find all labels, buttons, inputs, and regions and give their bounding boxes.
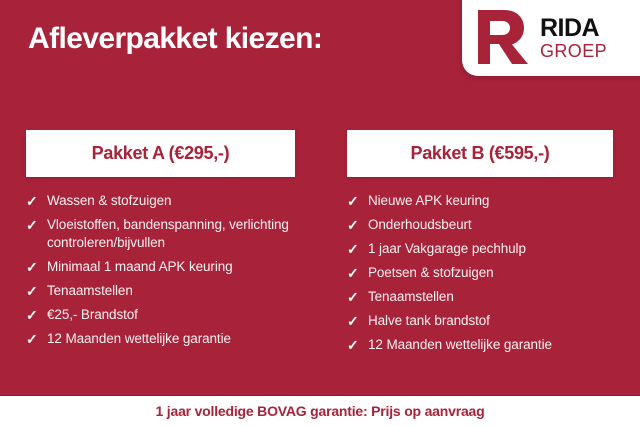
package-b-feature-list: ✓ Nieuwe APK keuring ✓ Onderhoudsbeurt ✓… [347, 192, 613, 354]
logo-sub-brand: GROEP [540, 42, 607, 60]
feature-label: 1 jaar Vakgarage pechhulp [368, 240, 526, 258]
feature-label: Minimaal 1 maand APK keuring [47, 258, 233, 276]
poster-footer: 1 jaar volledige BOVAG garantie: Prijs o… [0, 395, 640, 426]
logo-brand-name: RIDA [540, 16, 607, 41]
list-item: ✓ Vloeistoffen, bandenspanning, verlicht… [26, 216, 295, 252]
list-item: ✓ Onderhoudsbeurt [347, 216, 613, 234]
package-a-feature-list: ✓ Wassen & stofzuigen ✓ Vloeistoffen, ba… [26, 192, 295, 348]
list-item: ✓ Poetsen & stofzuigen [347, 264, 613, 282]
check-icon: ✓ [347, 264, 364, 282]
list-item: ✓ €25,- Brandstof [26, 306, 295, 324]
feature-label: Tenaamstellen [47, 282, 133, 300]
check-icon: ✓ [26, 216, 43, 234]
package-column-b: Pakket B (€595,-) ✓ Nieuwe APK keuring ✓… [347, 130, 613, 360]
list-item: ✓ Halve tank brandstof [347, 312, 613, 330]
list-item: ✓ Tenaamstellen [26, 282, 295, 300]
rida-groep-logo: RIDA GROEP [462, 0, 640, 76]
list-item: ✓ 12 Maanden wettelijke garantie [347, 336, 613, 354]
poster-header: Afleverpakket kiezen: RIDA GROEP [0, 0, 640, 96]
afleverpakket-poster: Afleverpakket kiezen: RIDA GROEP Pakket … [0, 0, 640, 426]
package-a-header[interactable]: Pakket A (€295,-) [26, 130, 295, 177]
feature-label: Nieuwe APK keuring [368, 192, 489, 210]
feature-label: 12 Maanden wettelijke garantie [368, 336, 552, 354]
check-icon: ✓ [347, 288, 364, 306]
check-icon: ✓ [347, 336, 364, 354]
list-item: ✓ Tenaamstellen [347, 288, 613, 306]
check-icon: ✓ [26, 258, 43, 276]
feature-label: 12 Maanden wettelijke garantie [47, 330, 231, 348]
list-item: ✓ Nieuwe APK keuring [347, 192, 613, 210]
check-icon: ✓ [26, 192, 43, 210]
rida-r-monogram-icon [472, 6, 534, 68]
footer-guarantee-text: 1 jaar volledige BOVAG garantie: Prijs o… [156, 403, 485, 419]
feature-label: Vloeistoffen, bandenspanning, verlichtin… [47, 216, 295, 252]
check-icon: ✓ [26, 282, 43, 300]
package-a-title: Pakket A (€295,-) [92, 143, 230, 164]
check-icon: ✓ [347, 216, 364, 234]
feature-label: Halve tank brandstof [368, 312, 490, 330]
feature-label: Poetsen & stofzuigen [368, 264, 494, 282]
check-icon: ✓ [347, 240, 364, 258]
feature-label: Wassen & stofzuigen [47, 192, 171, 210]
feature-label: €25,- Brandstof [47, 306, 138, 324]
list-item: ✓ Minimaal 1 maand APK keuring [26, 258, 295, 276]
check-icon: ✓ [347, 192, 364, 210]
package-column-a: Pakket A (€295,-) ✓ Wassen & stofzuigen … [26, 130, 295, 354]
package-b-header[interactable]: Pakket B (€595,-) [347, 130, 613, 177]
list-item: ✓ 1 jaar Vakgarage pechhulp [347, 240, 613, 258]
list-item: ✓ Wassen & stofzuigen [26, 192, 295, 210]
list-item: ✓ 12 Maanden wettelijke garantie [26, 330, 295, 348]
logo-wordmark: RIDA GROEP [540, 16, 607, 60]
check-icon: ✓ [26, 306, 43, 324]
page-title: Afleverpakket kiezen: [28, 22, 322, 56]
check-icon: ✓ [26, 330, 43, 348]
check-icon: ✓ [347, 312, 364, 330]
feature-label: Onderhoudsbeurt [368, 216, 472, 234]
package-b-title: Pakket B (€595,-) [411, 143, 550, 164]
feature-label: Tenaamstellen [368, 288, 454, 306]
